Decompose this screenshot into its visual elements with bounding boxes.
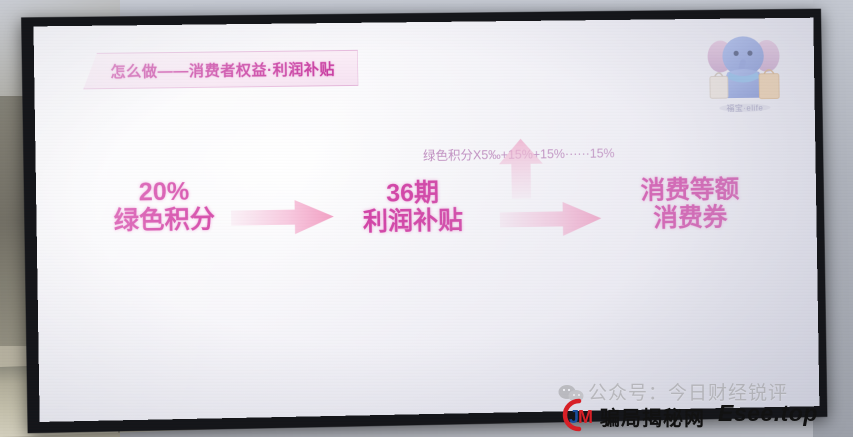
watermark-site-url: Esee.top	[718, 400, 818, 427]
photo-scene: 怎么做——消费者权益·利润补贴	[0, 0, 853, 437]
projection-screen: 怎么做——消费者权益·利润补贴	[33, 18, 819, 422]
svg-text:M: M	[578, 407, 593, 427]
watermark-site-cn: 骗局揭秘网	[600, 402, 705, 431]
jm-logo-icon: J M	[558, 398, 598, 432]
screen-vignette	[33, 18, 819, 422]
